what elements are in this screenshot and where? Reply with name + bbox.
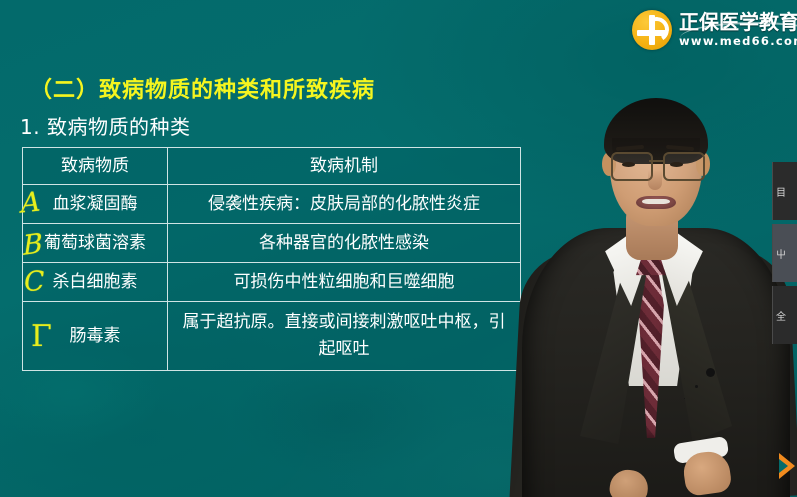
substance-label: 葡萄球菌溶素 — [44, 233, 146, 253]
table-cell-substance: A 血浆凝固酶 — [23, 185, 168, 224]
table-cell-mechanism: 各种器官的化脓性感染 — [168, 224, 521, 263]
chevron-right-icon[interactable] — [779, 453, 795, 479]
panel-button-2-label: 屮 — [776, 246, 786, 261]
panel-button-1-label: 目 — [776, 184, 786, 199]
substance-label: 肠毒素 — [70, 326, 121, 346]
table-cell-substance: C 杀白细胞素 — [23, 263, 168, 302]
table-cell-substance: Γ 肠毒素 — [23, 302, 168, 371]
substance-label: 血浆凝固酶 — [53, 194, 138, 214]
panel-button-1[interactable]: 目 — [772, 162, 797, 220]
table-row: Γ 肠毒素 属于超抗原。直接或间接刺激呕吐中枢，引起呕吐 — [23, 302, 521, 371]
table-cell-substance: B 葡萄球菌溶素 — [23, 224, 168, 263]
pathogenic-substance-table: 致病物质 致病机制 A 血浆凝固酶 侵袭性疾病：皮肤局部的化脓性炎症 B 葡萄球… — [22, 147, 521, 371]
substance-label: 杀白细胞素 — [53, 272, 138, 292]
table-row: A 血浆凝固酶 侵袭性疾病：皮肤局部的化脓性炎症 — [23, 185, 521, 224]
handwritten-annotation-b: B — [23, 230, 44, 260]
table-header-substance: 致病物质 — [23, 148, 168, 185]
handwritten-annotation-d: Γ — [31, 322, 52, 352]
panel-button-3[interactable]: 全 — [772, 286, 797, 344]
handwritten-annotation-c: C — [23, 268, 45, 296]
slide-title: （二）致病物质的种类和所致疾病 — [30, 72, 375, 104]
table-row: B 葡萄球菌溶素 各种器官的化脓性感染 — [23, 224, 521, 263]
right-side-panel: 目 屮 全 — [773, 0, 797, 497]
panel-button-2[interactable]: 屮 — [772, 224, 797, 282]
handwritten-annotation-a: A — [21, 188, 41, 217]
lecture-video-frame: 正保医学教育网 www.med66.com （二）致病物质的种类和所致疾病 1.… — [0, 0, 797, 497]
table-header-mechanism: 致病机制 — [168, 148, 521, 185]
table-header-row: 致病物质 致病机制 — [23, 148, 521, 185]
table-cell-mechanism: 侵袭性疾病：皮肤局部的化脓性炎症 — [168, 185, 521, 224]
lapel-microphone-icon — [706, 368, 715, 377]
presenter-figure — [498, 0, 797, 497]
table-row: C 杀白细胞素 可损伤中性粒细胞和巨噬细胞 — [23, 263, 521, 302]
panel-button-3-label: 全 — [776, 308, 786, 323]
table-cell-mechanism: 可损伤中性粒细胞和巨噬细胞 — [168, 263, 521, 302]
slide-subtitle: 1. 致病物质的种类 — [20, 111, 190, 140]
table-cell-mechanism: 属于超抗原。直接或间接刺激呕吐中枢，引起呕吐 — [168, 302, 521, 371]
